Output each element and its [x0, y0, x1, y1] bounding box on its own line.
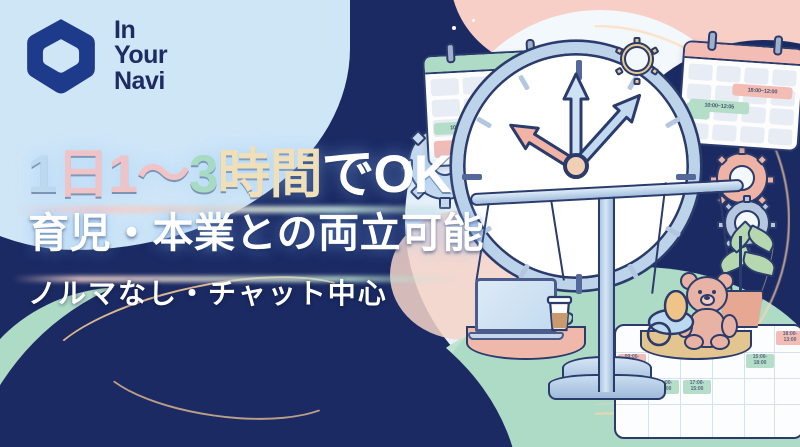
headline-seg-1: 1 — [28, 148, 56, 201]
headline-seg-5: 3 — [189, 148, 217, 201]
headline-seg-7: で — [321, 148, 373, 201]
headline-line-1: 1 日 1 〜 3 時間 で OK — [28, 148, 484, 201]
bear-foot — [710, 334, 730, 350]
brand-name: In Your Navi — [114, 18, 167, 95]
headline-seg-2: 日 — [56, 148, 108, 201]
headline-seg-4: 〜 — [137, 148, 189, 201]
promo-banner: 10:00~12:00 10:00~12:00 18:00~12:00 10:0… — [0, 0, 800, 447]
bear-eye — [698, 290, 702, 294]
schedule-chip: 18:00-13:00 — [776, 331, 800, 345]
bear-nose — [704, 296, 710, 300]
sparkle-dot — [472, 19, 475, 22]
scale-post — [598, 196, 615, 392]
brand-name-line-3: Navi — [114, 69, 167, 95]
headline-block: 1 日 1 〜 3 時間 で OK 育児・本業との両立可能 ノルマなし・チャット… — [28, 148, 484, 312]
brand-logo[interactable]: In Your Navi — [22, 16, 167, 96]
gear-icon — [716, 152, 768, 204]
headline-seg-6: 時間 — [217, 148, 321, 201]
laptop-base — [468, 332, 564, 340]
gear-icon — [620, 42, 654, 76]
clock-icon — [452, 42, 700, 290]
plant-stem — [739, 236, 742, 294]
headline-line-3: ノルマなし・チャット中心 — [28, 272, 484, 312]
schedule-chip: 15:00-18:00 — [746, 354, 774, 368]
brand-name-line-2: Your — [114, 43, 167, 69]
brand-name-line-1: In — [114, 18, 167, 44]
coffee-cup-icon — [546, 293, 573, 333]
bear-eye — [712, 290, 716, 294]
clock-center-hub — [563, 153, 589, 179]
schedule-chip: 17:00-15:00 — [683, 380, 711, 394]
pacifier-icon — [645, 290, 697, 348]
headline-seg-3: 1 — [108, 148, 136, 201]
headline-line-2: 育児・本業との両立可能 — [28, 212, 484, 255]
hexagon-ring-logo-icon — [22, 16, 100, 96]
laptop-screen — [475, 278, 557, 332]
sparkle-dot — [452, 26, 456, 30]
headline-seg-8: OK — [373, 148, 451, 201]
